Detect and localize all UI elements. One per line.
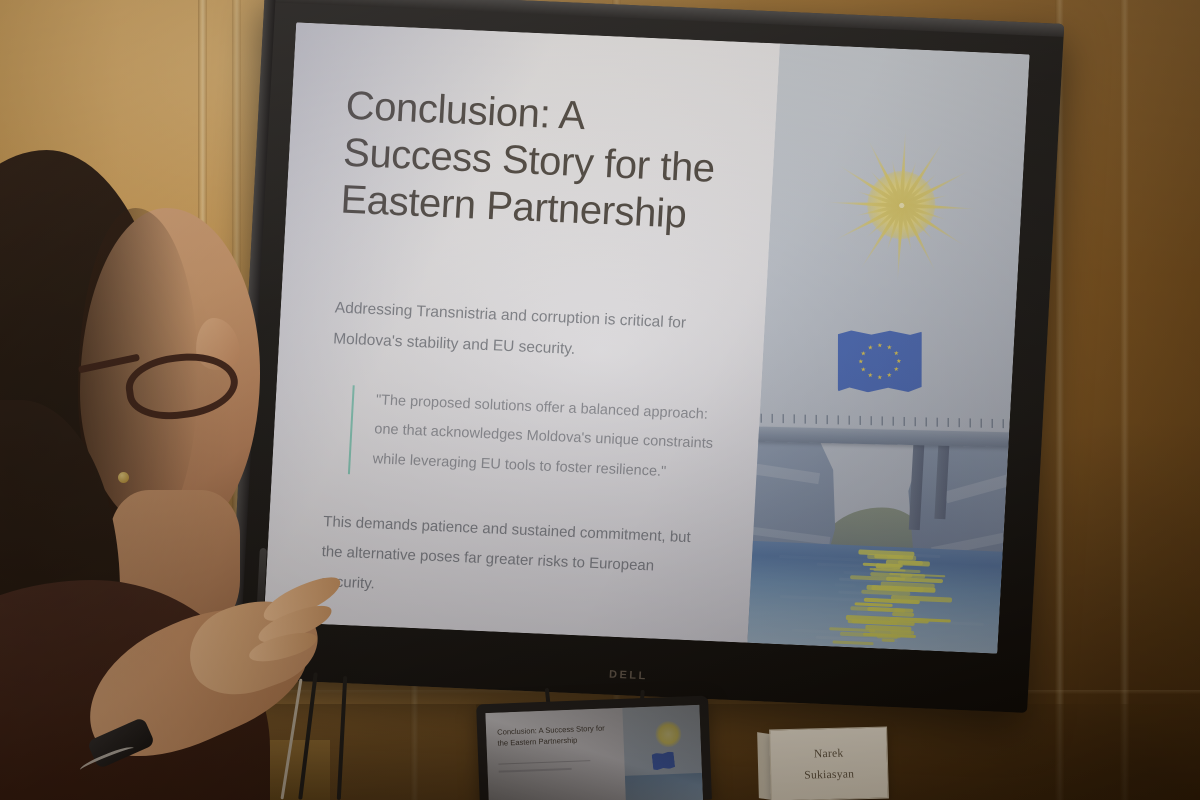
eu-flag-star bbox=[887, 372, 892, 377]
eu-flag-star bbox=[861, 367, 866, 372]
laptop-sun-icon bbox=[655, 721, 682, 748]
laptop-slide-line bbox=[499, 768, 572, 773]
presenter bbox=[0, 150, 380, 800]
laptop-screen[interactable]: Conclusion: A Success Story for the East… bbox=[485, 705, 702, 800]
eu-flag-icon bbox=[838, 330, 922, 393]
presenter-laptop[interactable]: Conclusion: A Success Story for the East… bbox=[476, 696, 712, 800]
laptop-slide-illustration bbox=[622, 705, 703, 800]
name-card-front: Narek Sukiasyan bbox=[769, 726, 889, 800]
sun-reflection bbox=[894, 577, 906, 580]
eu-flag-star bbox=[868, 345, 873, 350]
name-card-last-name: Sukiasyan bbox=[804, 768, 854, 781]
eu-flag-star bbox=[894, 351, 899, 356]
eu-flag-star bbox=[887, 345, 892, 350]
name-card-first-name: Narek bbox=[814, 747, 844, 760]
slide-title: Conclusion: A Success Story for the East… bbox=[339, 83, 737, 241]
eu-flag-star bbox=[894, 367, 899, 372]
water-wave bbox=[779, 555, 871, 562]
laptop-slide-rule bbox=[498, 760, 590, 765]
wall-panel-seam bbox=[1120, 0, 1129, 800]
monitor-brand-logo: DELL bbox=[609, 669, 648, 683]
slide-lead-paragraph: Addressing Transnistria and corruption i… bbox=[332, 292, 725, 371]
eu-flag-star bbox=[878, 343, 883, 348]
sun-ray bbox=[899, 202, 905, 208]
name-card: Narek Sukiasyan bbox=[769, 726, 889, 800]
laptop-water bbox=[625, 773, 703, 800]
eu-flag-star bbox=[897, 359, 902, 364]
eu-flag-star bbox=[878, 375, 883, 380]
photo-scene: DELL Conclusion: A Success Story for the… bbox=[0, 0, 1200, 800]
water-wave bbox=[817, 563, 862, 568]
laptop-slide-title: Conclusion: A Success Story for the East… bbox=[497, 722, 616, 749]
eu-flag-star bbox=[861, 351, 866, 356]
laptop-slide-text: Conclusion: A Success Story for the East… bbox=[485, 708, 625, 800]
sun-reflection bbox=[882, 638, 895, 641]
illustration-water bbox=[748, 541, 1003, 654]
sun-reflection bbox=[832, 641, 873, 645]
eu-flag-star bbox=[868, 373, 873, 378]
eu-flag-star bbox=[859, 359, 864, 364]
laptop-eu-flag-icon bbox=[651, 751, 675, 770]
slide-illustration bbox=[748, 44, 1030, 654]
water-wave bbox=[835, 584, 856, 588]
earring-icon bbox=[118, 472, 129, 483]
slide-quote: "The proposed solutions offer a balanced… bbox=[348, 385, 721, 490]
